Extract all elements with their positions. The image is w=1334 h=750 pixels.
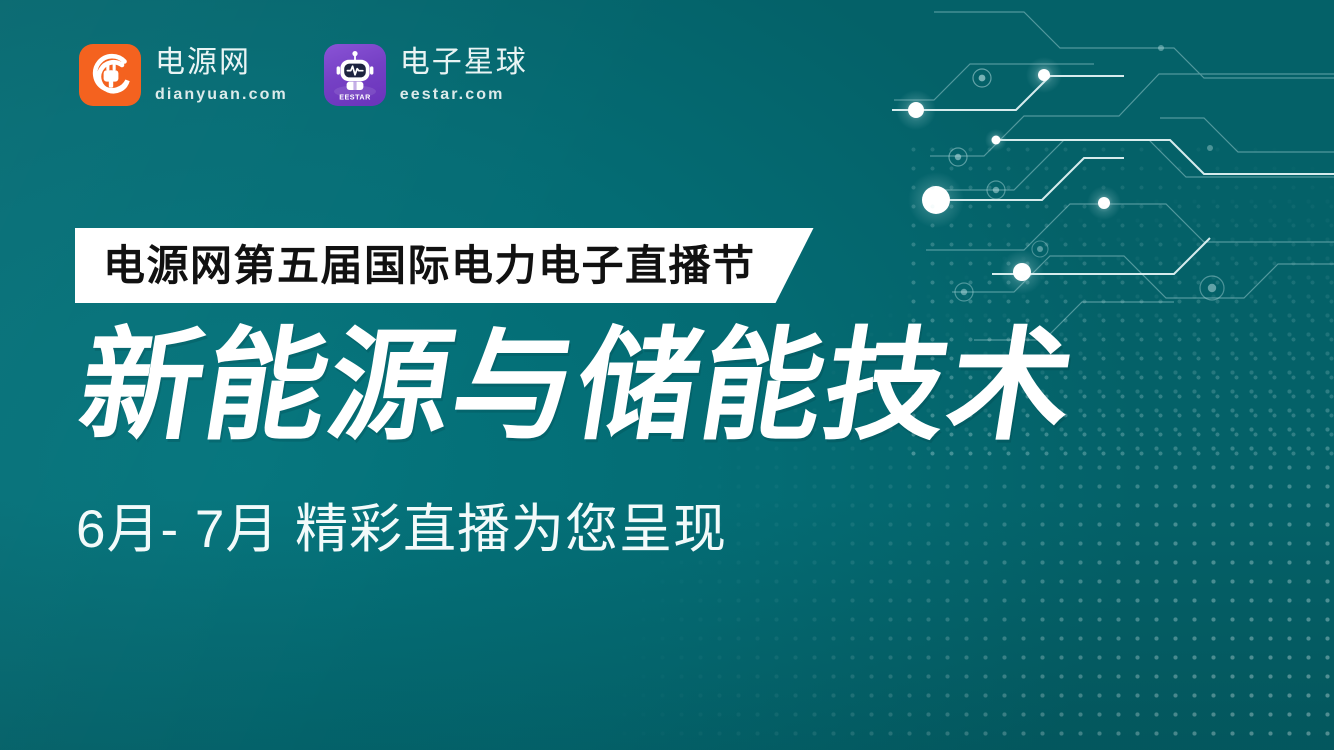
svg-text:EESTAR: EESTAR xyxy=(339,93,371,102)
event-title-banner: 电源网第五届国际电力电子直播节 xyxy=(75,228,814,303)
logo-dianyuan[interactable]: 电源网 dianyuan.com xyxy=(79,44,288,106)
logo-eestar-url: eestar.com xyxy=(400,87,528,103)
main-headline: 新能源与储能技术 xyxy=(72,325,1083,447)
logo-dianyuan-name: 电源网 xyxy=(155,48,288,78)
brand-logo-row: 电源网 dianyuan.com EESTAR 电子星球 eest xyxy=(79,44,528,106)
logo-dianyuan-url: dianyuan.com xyxy=(155,87,288,103)
promo-banner-poster: 电源网 dianyuan.com EESTAR 电子星球 eest xyxy=(0,0,1334,750)
logo-eestar-name: 电子星球 xyxy=(400,48,528,78)
event-title-text: 电源网第五届国际电力电子直播节 xyxy=(103,245,756,287)
robot-mascot-icon: EESTAR xyxy=(324,44,386,106)
schedule-subtitle: 6月- 7月 精彩直播为您呈现 xyxy=(76,500,727,561)
logo-dianyuan-text: 电源网 dianyuan.com xyxy=(155,48,288,103)
logo-eestar[interactable]: EESTAR 电子星球 eestar.com xyxy=(324,44,528,106)
power-plug-icon xyxy=(79,44,141,106)
logo-eestar-text: 电子星球 eestar.com xyxy=(400,48,528,103)
